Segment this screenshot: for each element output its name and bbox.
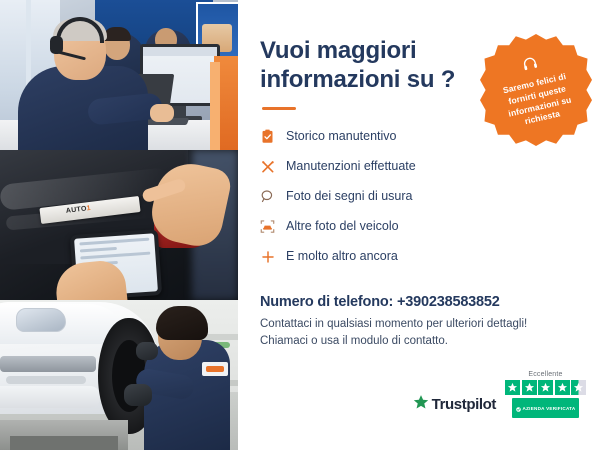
photo-column: AUTO1 (0, 0, 238, 450)
tablet-line-decor (79, 238, 149, 246)
trustpilot-wordmark: Trustpilot (432, 396, 496, 413)
mechanic-glove-decor (124, 384, 152, 406)
car-grille-lower-decor (6, 376, 86, 384)
check-circle-icon (516, 399, 521, 417)
phone-label: Numero di telefono: (260, 294, 393, 310)
trustpilot-star-icon (413, 394, 429, 415)
uniform-logo-decor (202, 362, 228, 376)
verified-badge: AZIENDA VERIFICATA (512, 398, 580, 418)
contact-line-one: Contattaci in qualsiasi momento per ulte… (260, 316, 578, 333)
star-half-icon (571, 380, 586, 395)
phone-line: Numero di telefono: +390238583852 (260, 294, 578, 310)
tablet-line-decor (80, 252, 150, 260)
title-underline-divider (262, 107, 296, 110)
tools-cross-icon (260, 156, 286, 178)
phone-number[interactable]: +390238583852 (397, 294, 500, 310)
car-bumper-decor (0, 386, 100, 408)
photo-wheel-service (0, 300, 238, 450)
trustpilot-logo: Trustpilot (413, 394, 496, 418)
feature-label: Foto dei segni di usura (286, 189, 412, 204)
rating-label: Eccellente (528, 371, 562, 378)
plus-icon (260, 246, 286, 268)
mechanic-glove-two-decor (136, 342, 158, 360)
list-item: E molto altro ancora (260, 244, 578, 270)
feature-label: Manutenzioni effettuate (286, 159, 416, 174)
list-item: Altre foto del veicolo (260, 214, 578, 240)
star-icon (538, 380, 553, 395)
trustpilot-rating-block: Eccellente (505, 371, 586, 418)
headset-icon (520, 54, 540, 78)
verified-badge-label: AZIENDA VERIFICATA (523, 406, 576, 411)
star-icon (505, 380, 520, 395)
content-panel: Vuoi maggiori informazioni su ? Saremo f… (238, 0, 600, 450)
car-lift-shadow-decor (10, 436, 118, 450)
feature-label: Altre foto del veicolo (286, 219, 399, 234)
callout-badge: Saremo felici di fornirti queste informa… (480, 34, 592, 146)
operator-hand-decor (150, 104, 174, 122)
magnifier-icon (260, 186, 286, 208)
feature-label: Storico manutentivo (286, 129, 396, 144)
strip-logo-decor: AUTO1 (66, 205, 92, 215)
badge-content: Saremo felici di fornirti queste informa… (469, 23, 600, 157)
colleague-two-hair-decor (103, 27, 131, 41)
feature-label: E molto altro ancora (286, 249, 398, 264)
tablet-line-decor (80, 247, 117, 253)
promo-panel: AUTO1 (0, 0, 600, 450)
trustpilot-widget[interactable]: Trustpilot Eccellente (413, 371, 586, 418)
contact-line-two: Chiamaci o usa il modulo di contatto. (260, 333, 578, 350)
list-item: Manutenzioni effettuate (260, 154, 578, 180)
page-title: Vuoi maggiori informazioni su ? (260, 36, 460, 95)
clipboard-check-icon (260, 126, 286, 148)
orange-rack-highlight-decor (210, 62, 220, 150)
contact-text: Contattaci in qualsiasi momento per ulte… (260, 316, 578, 351)
mechanic-hair-decor (156, 306, 208, 340)
star-icon (522, 380, 537, 395)
car-grille-decor (0, 356, 96, 372)
headlight-decor (16, 308, 66, 332)
badge-label: Saremo felici di fornirti queste informa… (488, 68, 588, 134)
list-item: Foto dei segni di usura (260, 184, 578, 210)
screen-toolbar-decor (143, 47, 217, 56)
rating-stars (505, 380, 586, 395)
photo-paint-gauge: AUTO1 (0, 150, 238, 300)
photo-call-center (0, 0, 238, 150)
car-scan-icon (260, 216, 286, 238)
star-icon (555, 380, 570, 395)
